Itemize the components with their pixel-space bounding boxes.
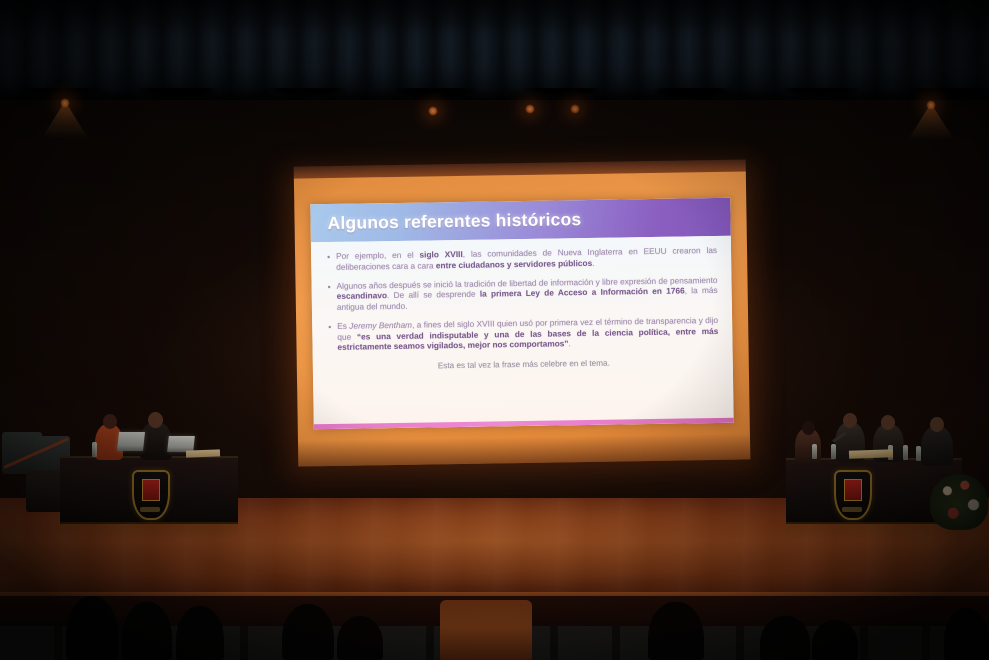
crest-band [842, 507, 862, 512]
panelist-right-2-head [843, 413, 857, 428]
audience-person [337, 616, 383, 660]
panelist-right-3-head [881, 415, 895, 430]
stage-lamp-center-c [570, 104, 580, 114]
bullet-text: Por ejemplo, en el siglo XVIII, las comu… [336, 245, 717, 273]
audience-person [760, 616, 810, 660]
slide-bullet-3: • Es Jeremy Bentham, a fines del siglo X… [328, 315, 718, 353]
table-legs-right [786, 522, 962, 538]
slide-title: Algunos referentes históricos [327, 209, 581, 234]
flower-arrangement [930, 474, 988, 530]
crest-emblem [844, 479, 862, 501]
table-legs-left [60, 522, 238, 538]
panelist-right-1-head [802, 421, 815, 435]
institution-crest-left [132, 470, 170, 520]
papers-right [849, 449, 893, 459]
slide-bullet-1: • Por ejemplo, en el siglo XVIII, las co… [327, 245, 717, 273]
water-bottle-right-2 [831, 444, 836, 459]
bullet-text: Es Jeremy Bentham, a fines del siglo XVI… [337, 315, 718, 353]
water-bottle-right-5 [916, 446, 921, 461]
audience-person [812, 620, 858, 660]
presentation-slide: Algunos referentes históricos • Por ejem… [310, 198, 733, 430]
crest-emblem [142, 479, 160, 501]
projection-screen: Algunos referentes históricos • Por ejem… [294, 159, 751, 466]
bullet-text: Algunos años después se inició la tradic… [336, 274, 717, 312]
laptop-left-1 [117, 432, 145, 451]
panelist-right-4-head [930, 417, 944, 432]
water-bottle-right-4 [903, 445, 908, 460]
institution-crest-right [834, 470, 872, 520]
presenter-left-man-head [148, 412, 163, 428]
bullet-marker: • [328, 321, 338, 353]
slide-body: • Por ejemplo, en el siglo XVIII, las co… [311, 236, 734, 430]
panelist-right-4 [921, 426, 953, 466]
stage-lamp-center-a [428, 106, 438, 116]
auditorium-scene: Algunos referentes históricos • Por ejem… [0, 0, 989, 660]
presenter-left-woman-head [103, 414, 117, 429]
slide-closing-line: Esta es tal vez la frase más celebre en … [329, 357, 719, 372]
bullet-marker: • [327, 251, 336, 273]
stage-lamp-center-b [525, 104, 535, 114]
papers-left [186, 449, 220, 457]
slide-title-band: Algunos referentes históricos [310, 198, 731, 243]
stage-podium [440, 600, 532, 660]
water-bottle-right-1 [812, 444, 817, 459]
crest-band [140, 507, 160, 512]
presenters-table-left [60, 456, 238, 524]
slide-bullet-2: • Algunos años después se inició la trad… [327, 274, 717, 312]
water-bottle-left [92, 442, 97, 457]
